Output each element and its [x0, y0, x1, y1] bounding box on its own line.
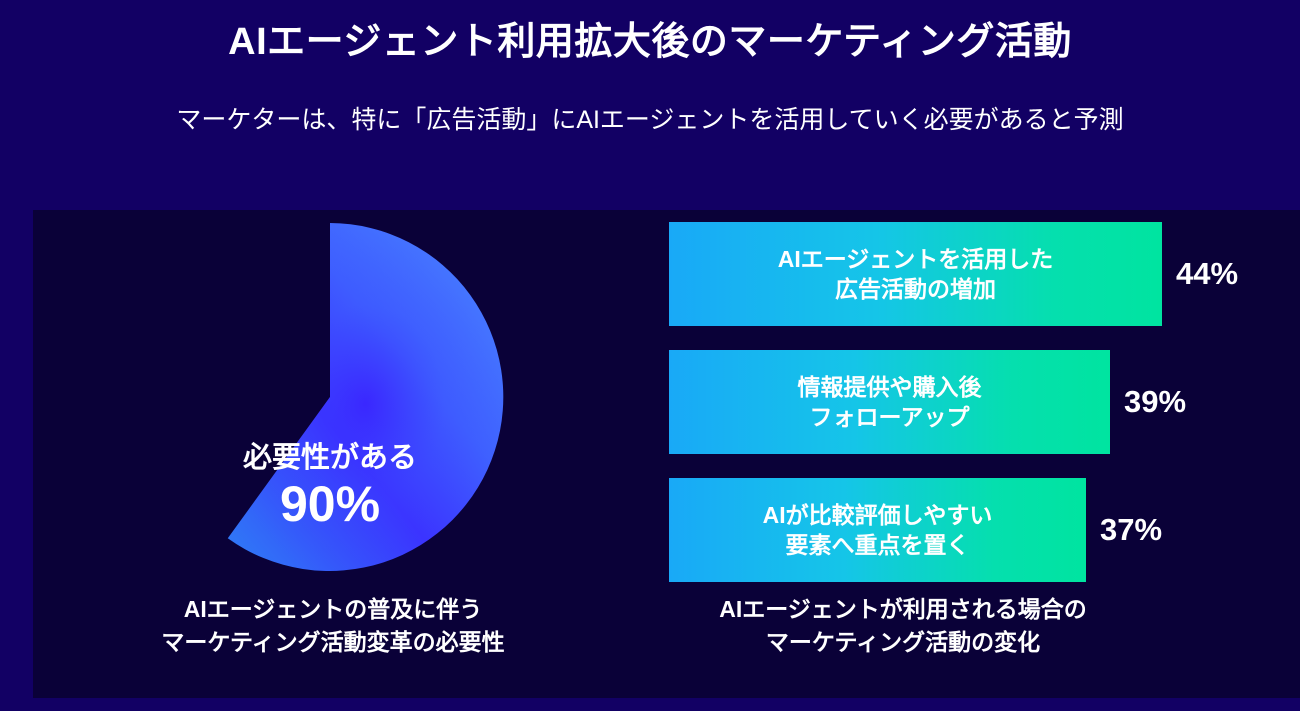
pie-caption-line2: マーケティング活動変革の必要性: [93, 626, 573, 659]
bar-label-1-line2: フォローアップ: [798, 402, 982, 432]
bar-row: AIが比較評価しやすい 要素へ重点を置く 37%: [669, 478, 1162, 582]
bar-label-2-line2: 要素へ重点を置く: [763, 530, 993, 560]
pie-caption-line1: AIエージェントの普及に伴う: [93, 593, 573, 626]
bar-fill-0: AIエージェントを活用した 広告活動の増加: [669, 222, 1162, 326]
bar-row: 情報提供や購入後 フォローアップ 39%: [669, 350, 1186, 454]
page-title: AIエージェント利用拡大後のマーケティング活動: [0, 18, 1300, 67]
bar-caption-line1: AIエージェントが利用される場合の: [633, 593, 1173, 626]
bar-label-0-line2: 広告活動の増加: [778, 274, 1054, 304]
bar-chart-section: AIエージェントを活用した 広告活動の増加 44% 情報提供や購入後 フォローア…: [633, 210, 1300, 698]
pie-chart: [155, 222, 505, 572]
bar-caption-line2: マーケティング活動の変化: [633, 626, 1173, 659]
bar-value-1: 39%: [1124, 384, 1186, 420]
bar-row: AIエージェントを活用した 広告活動の増加 44%: [669, 222, 1238, 326]
page-subtitle: マーケターは、特に「広告活動」にAIエージェントを活用していく必要があると予測: [0, 103, 1300, 138]
bar-label-0: AIエージェントを活用した 広告活動の増加: [778, 244, 1054, 305]
bar-label-2-line1: AIが比較評価しやすい: [763, 500, 993, 530]
chart-panel: 必要性がある 90% AIエージェントの普及に伴う マーケティング活動変革の必要…: [33, 210, 1300, 698]
pie-caption: AIエージェントの普及に伴う マーケティング活動変革の必要性: [93, 593, 573, 660]
bar-value-0: 44%: [1176, 256, 1238, 292]
bar-label-2: AIが比較評価しやすい 要素へ重点を置く: [763, 500, 993, 561]
bar-chart-caption: AIエージェントが利用される場合の マーケティング活動の変化: [633, 593, 1173, 660]
pie-chart-section: 必要性がある 90% AIエージェントの普及に伴う マーケティング活動変革の必要…: [33, 210, 633, 698]
header: AIエージェント利用拡大後のマーケティング活動 マーケターは、特に「広告活動」に…: [0, 0, 1300, 208]
bar-label-1-line1: 情報提供や購入後: [798, 372, 982, 402]
pie-chart-svg: [155, 222, 505, 572]
bar-label-0-line1: AIエージェントを活用した: [778, 244, 1054, 274]
bar-value-2: 37%: [1100, 512, 1162, 548]
pie-slice-glow: [228, 223, 504, 571]
bar-label-1: 情報提供や購入後 フォローアップ: [798, 372, 982, 433]
bar-fill-2: AIが比較評価しやすい 要素へ重点を置く: [669, 478, 1086, 582]
bar-fill-1: 情報提供や購入後 フォローアップ: [669, 350, 1110, 454]
